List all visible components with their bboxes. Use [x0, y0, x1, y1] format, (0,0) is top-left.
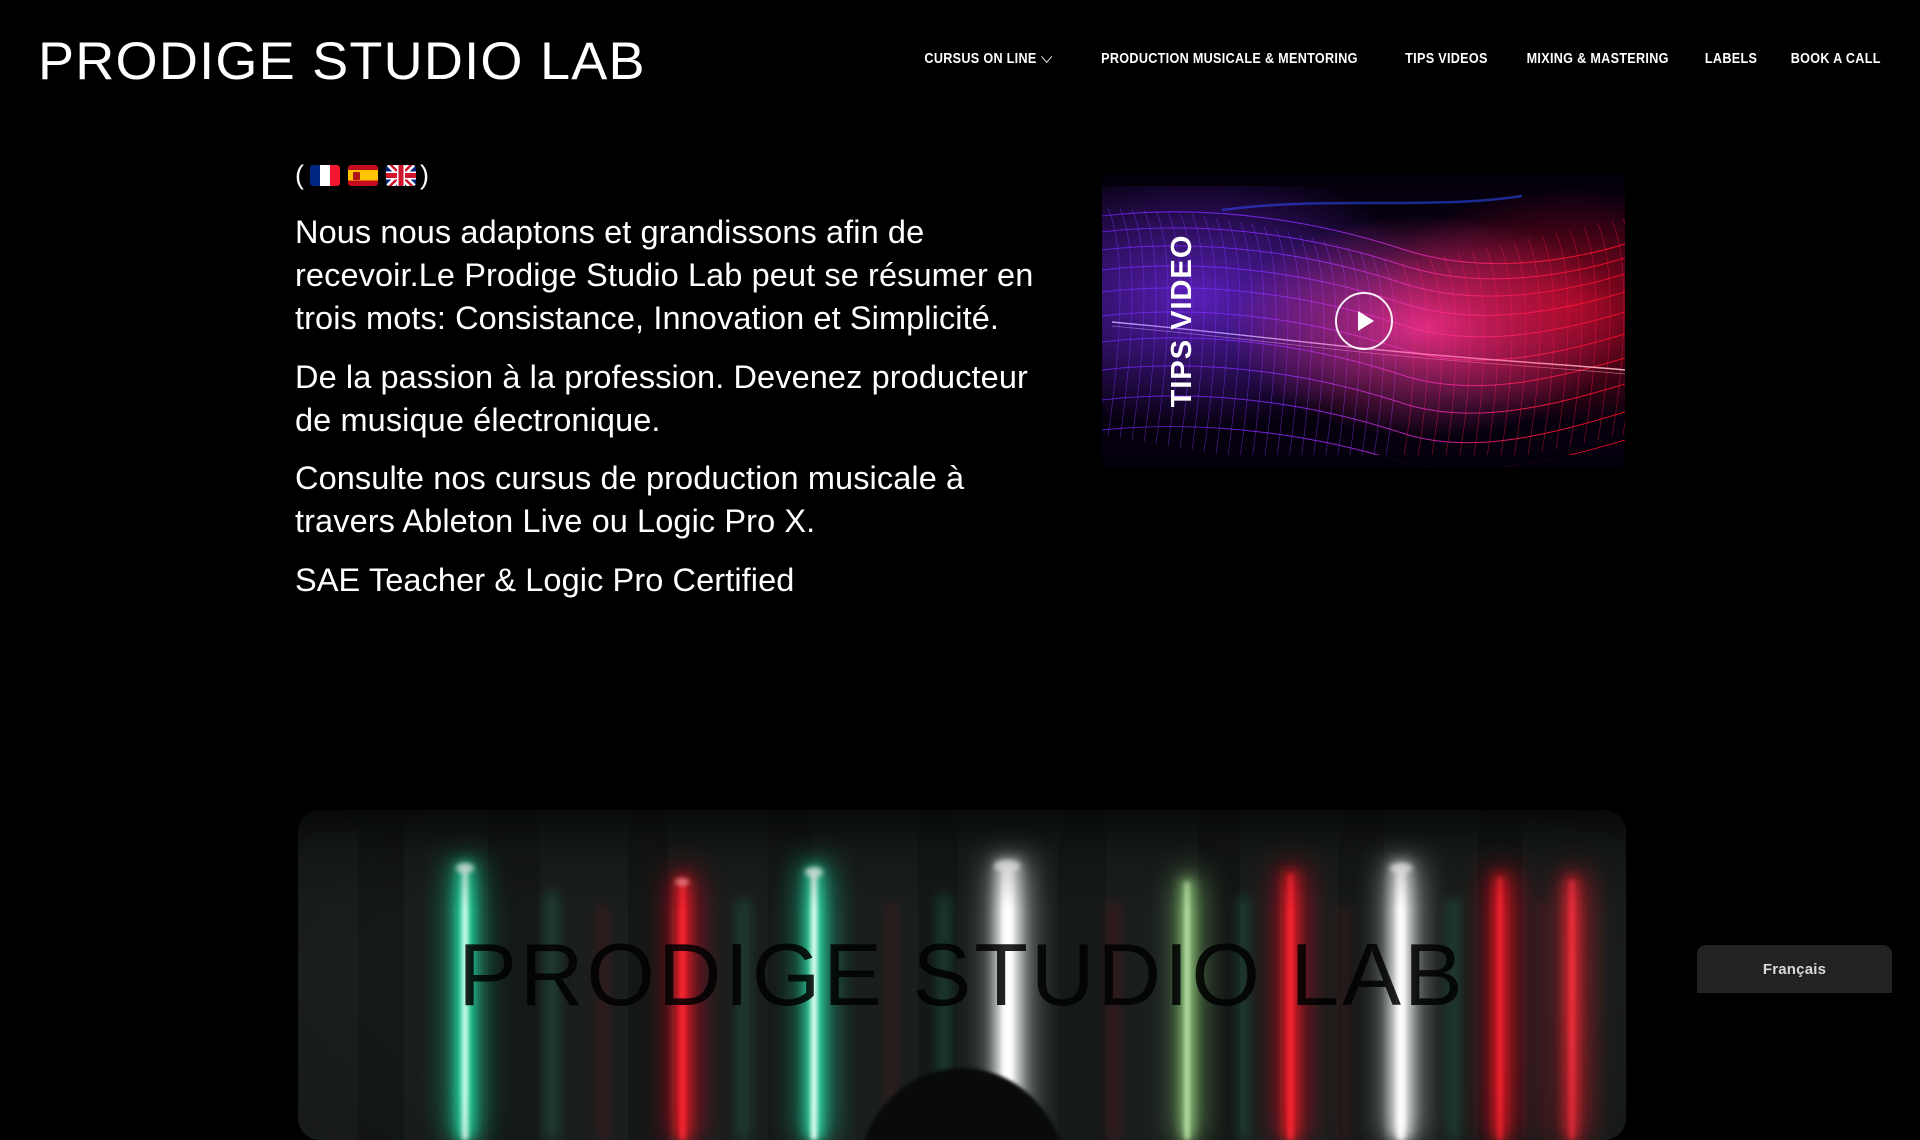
language-widget-label: Français [1763, 961, 1826, 978]
intro-paragraph-1: Nous nous adaptons et grandissons afin d… [295, 211, 1055, 340]
flag-uk-icon[interactable] [386, 165, 416, 186]
intro-column: ( ) Nous nous adaptons et grandissons af… [295, 162, 1055, 602]
language-selector: ( ) [295, 162, 1055, 189]
neon-banner[interactable]: PRODIGE STUDIO LAB [298, 810, 1626, 1140]
nav-item-book-a-call[interactable]: BOOK A CALL [1790, 52, 1880, 67]
intro-paragraph-4: SAE Teacher & Logic Pro Certified [295, 559, 1055, 602]
nav-item-tips-videos[interactable]: TIPS VIDEOS [1405, 52, 1488, 67]
flag-spain-icon[interactable] [348, 165, 378, 186]
main-navigation: CURSUS ON LINE PRODUCTION MUSICALE & MEN… [915, 52, 1887, 67]
nav-item-labels[interactable]: LABELS [1705, 52, 1757, 67]
play-icon[interactable] [1335, 292, 1393, 350]
play-triangle [1358, 311, 1374, 331]
chevron-down-icon[interactable] [1041, 50, 1052, 63]
close-paren: ) [420, 162, 431, 189]
intro-paragraph-2: De la passion à la profession. Devenez p… [295, 356, 1055, 442]
tips-video-card[interactable]: TIPS VIDEO [1102, 174, 1625, 467]
nav-label: CURSUS ON LINE [925, 52, 1037, 67]
flag-france-icon[interactable] [310, 165, 340, 186]
language-widget[interactable]: Français [1697, 945, 1892, 993]
open-paren: ( [295, 162, 306, 189]
nav-item-cursus-on-line[interactable]: CURSUS ON LINE [925, 52, 1051, 67]
tips-video-label: TIPS VIDEO [1166, 234, 1199, 407]
nav-item-mixing-mastering[interactable]: MIXING & MASTERING [1527, 52, 1669, 67]
intro-paragraph-3: Consulte nos cursus de production musica… [295, 457, 1055, 543]
site-header: PRODIGE STUDIO LAB CURSUS ON LINE PRODUC… [0, 0, 1920, 132]
nav-item-production-musicale-mentoring[interactable]: PRODUCTION MUSICALE & MENTORING [1101, 52, 1358, 67]
site-logo[interactable]: PRODIGE STUDIO LAB [38, 35, 646, 88]
